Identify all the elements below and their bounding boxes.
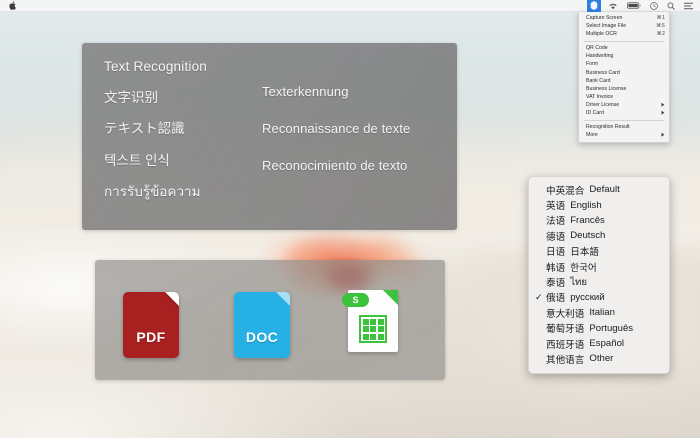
language-menu-item[interactable]: 葡萄牙语Português bbox=[529, 321, 669, 336]
language-name-native: ไทย bbox=[570, 275, 587, 290]
language-menu-item[interactable]: 西班牙语Español bbox=[529, 336, 669, 351]
language-name-native: 한국어 bbox=[570, 260, 596, 274]
pdf-icon-label: PDF bbox=[136, 329, 165, 345]
language-name-native: Francês bbox=[570, 215, 605, 226]
app-menu-item-label: Capture Screen bbox=[586, 14, 657, 22]
language-name-chinese: 葡萄牙语 bbox=[546, 321, 584, 335]
app-menu-item-shortcut: ⌘1 bbox=[657, 14, 665, 22]
language-menu-item[interactable]: 日语日本語 bbox=[529, 244, 669, 259]
language-name-chinese: 德语 bbox=[546, 229, 565, 243]
language-name-native: English bbox=[570, 200, 601, 211]
desktop-screen: Capture Screen⌘1Select Image File⌘SMulti… bbox=[0, 0, 700, 438]
excel-icon-badge: S bbox=[342, 293, 369, 307]
language-selection-menu[interactable]: 中英混合Default英语English法语Francês德语Deutsch日语… bbox=[528, 176, 670, 374]
language-menu-item[interactable]: ✓俄语русский bbox=[529, 290, 669, 305]
checkmark-icon: ✓ bbox=[535, 292, 546, 303]
app-menu-item-label: VAT Invoice bbox=[586, 93, 665, 101]
search-icon[interactable] bbox=[667, 0, 675, 12]
wifi-icon[interactable] bbox=[608, 0, 618, 12]
app-menu-item[interactable]: Select Image File⌘S bbox=[579, 22, 669, 30]
language-menu-item[interactable]: 德语Deutsch bbox=[529, 228, 669, 243]
excel-page-fold-icon bbox=[383, 290, 398, 305]
language-menu-item[interactable]: 法语Francês bbox=[529, 213, 669, 228]
app-menu-item-shortcut: ⌘S bbox=[656, 22, 665, 30]
language-name-chinese: 西班牙语 bbox=[546, 337, 584, 351]
recognition-phrase: Reconocimiento de texto bbox=[262, 158, 462, 173]
app-menu-item-label: QR Code bbox=[586, 44, 665, 52]
ocr-app-dropdown-menu[interactable]: Capture Screen⌘1Select Image File⌘SMulti… bbox=[578, 12, 670, 143]
language-name-chinese: 中英混合 bbox=[546, 183, 584, 197]
app-menu-item[interactable]: QR Code bbox=[579, 44, 669, 52]
recognition-phrase: Text Recognition bbox=[104, 59, 264, 74]
macos-menubar bbox=[0, 0, 700, 12]
app-menu-item-label: Business License bbox=[586, 85, 665, 93]
app-menu-item[interactable]: Business License bbox=[579, 85, 669, 93]
app-menu-item-label: Bank Card bbox=[586, 77, 665, 85]
app-menu-item-shortcut: ⌘2 bbox=[657, 30, 665, 38]
excel-file-icon[interactable]: S bbox=[344, 290, 400, 356]
menu-separator bbox=[584, 120, 664, 121]
language-menu-item[interactable]: 其他语言Other bbox=[529, 351, 669, 366]
app-menu-item[interactable]: Handwriting bbox=[579, 52, 669, 60]
chevron-right-icon: ▶ bbox=[662, 109, 665, 117]
pdf-icon-body: PDF bbox=[123, 292, 179, 358]
app-menu-item-label: Select Image File bbox=[586, 22, 656, 30]
app-menu-item-label: Handwriting bbox=[586, 52, 665, 60]
language-menu-item[interactable]: 中英混合Default bbox=[529, 182, 669, 197]
language-menu-item[interactable]: 泰语ไทย bbox=[529, 274, 669, 289]
app-menu-item[interactable]: VAT Invoice bbox=[579, 93, 669, 101]
language-menu-item[interactable]: 意大利语Italian bbox=[529, 305, 669, 320]
recognition-phrase: Reconnaissance de texte bbox=[262, 121, 462, 136]
chevron-right-icon: ▶ bbox=[662, 131, 665, 139]
app-menu-item-label: Business Card bbox=[586, 69, 665, 77]
menu-separator bbox=[584, 41, 664, 42]
excel-grid-icon bbox=[359, 315, 387, 343]
battery-icon[interactable] bbox=[627, 0, 641, 12]
language-name-native: Italian bbox=[589, 307, 615, 318]
recognition-phrase: การรับรู้ข้อความ bbox=[104, 180, 264, 202]
app-menu-item[interactable]: Driver License▶ bbox=[579, 101, 669, 109]
language-name-native: Deutsch bbox=[570, 230, 605, 241]
recognition-phrase: Texterkennung bbox=[262, 84, 462, 99]
app-menu-item-label: Recognition Result bbox=[586, 123, 665, 131]
excel-icon-body: S bbox=[348, 290, 398, 352]
file-icon-group: PDF DOC S bbox=[95, 260, 445, 380]
app-menu-item-label: More bbox=[586, 131, 661, 139]
time-machine-icon[interactable] bbox=[650, 0, 658, 12]
apple-logo-icon[interactable] bbox=[9, 1, 17, 10]
recognition-phrase: 文字识别 bbox=[104, 86, 264, 106]
export-formats-panel: PDF DOC S bbox=[95, 260, 445, 380]
language-name-chinese: 俄语 bbox=[546, 290, 565, 304]
app-menu-item[interactable]: Bank Card bbox=[579, 77, 669, 85]
app-menu-item-label: ID Card bbox=[586, 109, 661, 117]
doc-icon-body: DOC bbox=[234, 292, 290, 358]
language-name-chinese: 韩语 bbox=[546, 260, 565, 274]
text-recognition-panel: Text Recognition文字识别テキスト認識텍스트 인식การรับรู… bbox=[82, 43, 457, 230]
control-center-icon[interactable] bbox=[684, 0, 693, 12]
app-menu-item[interactable]: Recognition Result bbox=[579, 123, 669, 131]
menubar-status-icons bbox=[587, 0, 693, 12]
language-name-chinese: 日语 bbox=[546, 244, 565, 258]
doc-file-icon[interactable]: DOC bbox=[234, 292, 290, 358]
language-name-native: Default bbox=[589, 184, 619, 195]
language-name-native: Other bbox=[589, 353, 613, 364]
app-menu-item[interactable]: Multiple OCR⌘2 bbox=[579, 30, 669, 38]
chevron-right-icon: ▶ bbox=[662, 101, 665, 109]
app-menu-item[interactable]: Form bbox=[579, 60, 669, 68]
app-menu-item[interactable]: More▶ bbox=[579, 131, 669, 139]
language-name-chinese: 其他语言 bbox=[546, 352, 584, 366]
pdf-file-icon[interactable]: PDF bbox=[123, 292, 179, 358]
app-menu-item[interactable]: Capture Screen⌘1 bbox=[579, 14, 669, 22]
language-name-native: Português bbox=[589, 323, 633, 334]
recognition-phrase: テキスト認識 bbox=[104, 117, 264, 137]
app-menu-item-label: Multiple OCR bbox=[586, 30, 657, 38]
language-name-chinese: 泰语 bbox=[546, 275, 565, 289]
text-panel-right-column: TexterkennungReconnaissance de texteReco… bbox=[262, 84, 462, 195]
language-name-chinese: 意大利语 bbox=[546, 306, 584, 320]
language-menu-item[interactable]: 韩语한국어 bbox=[529, 259, 669, 274]
app-menu-item[interactable]: Business Card bbox=[579, 69, 669, 77]
recognition-phrase: 텍스트 인식 bbox=[104, 149, 264, 169]
language-name-native: Español bbox=[589, 338, 624, 349]
pdf-page-fold-icon bbox=[165, 292, 179, 306]
doc-page-fold-icon bbox=[276, 292, 290, 306]
language-name-chinese: 英语 bbox=[546, 198, 565, 212]
language-name-native: русский bbox=[570, 292, 604, 303]
text-panel-left-column: Text Recognition文字识别テキスト認識텍스트 인식การรับรู… bbox=[104, 59, 264, 214]
ocr-app-menubar-icon[interactable] bbox=[587, 0, 601, 12]
doc-icon-label: DOC bbox=[246, 329, 278, 345]
app-menu-item-label: Form bbox=[586, 60, 665, 68]
language-menu-item[interactable]: 英语English bbox=[529, 197, 669, 212]
language-name-chinese: 法语 bbox=[546, 213, 565, 227]
language-name-native: 日本語 bbox=[570, 244, 599, 258]
app-menu-item[interactable]: ID Card▶ bbox=[579, 109, 669, 117]
app-menu-item-label: Driver License bbox=[586, 101, 661, 109]
